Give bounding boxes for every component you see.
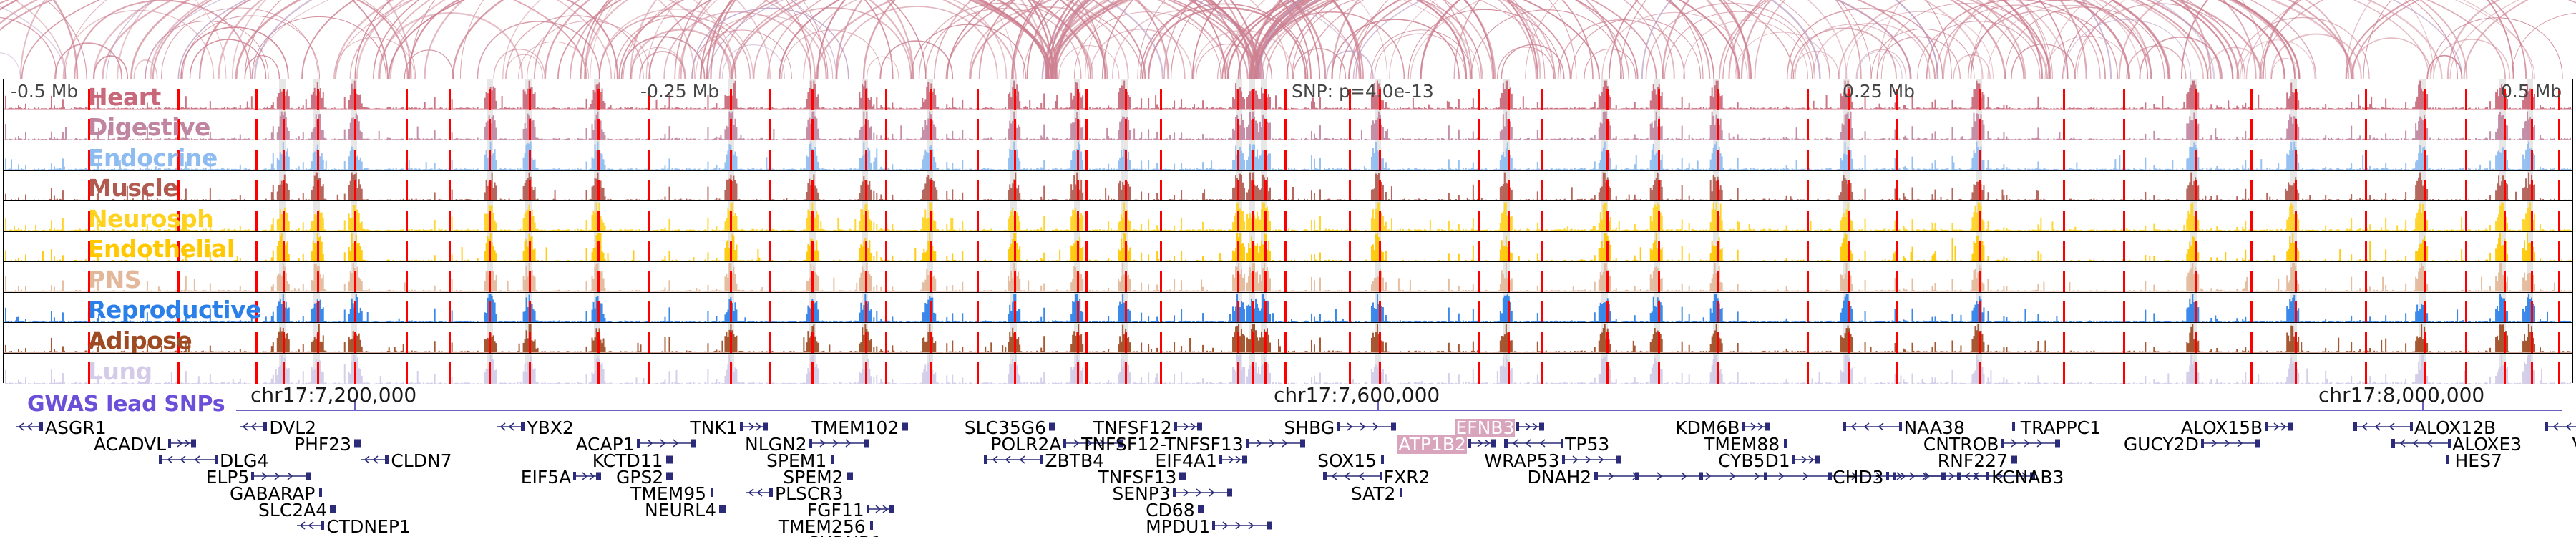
loop-arc [0, 0, 1053, 79]
track-muscle[interactable]: Muscle [4, 171, 2572, 202]
genome-browser-screenshot: Heart-0.5 Mb-0.25 Mb0.25 Mb0.5 MbSNP: p=… [0, 0, 2576, 537]
ruler-baseline [236, 410, 2562, 411]
snp-pvalue-annotation: SNP: p=4.0e-13 [1292, 81, 1434, 102]
axis-tick-label: 0.25 Mb [1843, 81, 1915, 102]
signal-histogram [4, 323, 2572, 353]
loop-arc [0, 17, 57, 79]
track-neurosph[interactable]: Neurosph [4, 201, 2572, 232]
track-endocrine[interactable]: Endocrine [4, 140, 2572, 171]
gene-name-label: CHRNB1 [806, 534, 883, 537]
track-pns[interactable]: PNS [4, 262, 2572, 293]
loop-arc [0, 0, 1048, 79]
loop-arc [1252, 0, 2067, 79]
loop-arc [494, 49, 545, 79]
loop-arc [1047, 0, 1982, 79]
epigenome-track-stack: Heart-0.5 Mb-0.25 Mb0.25 Mb0.5 MbSNP: p=… [3, 79, 2573, 383]
track-digestive[interactable]: Digestive [4, 110, 2572, 141]
loop-arc [1787, 9, 1943, 79]
axis-tick-label: -0.25 Mb [640, 81, 719, 102]
track-adipose[interactable]: Adipose [4, 323, 2572, 354]
signal-histogram [4, 201, 2572, 231]
loop-arc [0, 0, 1051, 79]
loop-arc [0, 0, 1051, 79]
loop-arc [0, 53, 20, 79]
track-endothelial[interactable]: Endothelial [4, 232, 2572, 263]
signal-histogram [4, 354, 2572, 384]
axis-tick-label: -0.5 Mb [11, 81, 78, 102]
loop-arc [2434, 39, 2510, 79]
loop-arc [2260, 0, 2576, 79]
signal-histogram [4, 171, 2572, 201]
loop-arc [619, 0, 1657, 79]
loop-arc [1571, 19, 1700, 79]
loop-arc [460, 0, 826, 79]
gene-model [883, 534, 945, 537]
track-heart[interactable]: Heart-0.5 Mb-0.25 Mb0.25 Mb0.5 MbSNP: p=… [4, 79, 2572, 110]
signal-histogram [4, 262, 2572, 292]
loop-arc [2353, 0, 2576, 79]
loop-arc [1261, 0, 2441, 79]
loop-arc [1856, 49, 1906, 79]
loop-arc [1877, 37, 1960, 79]
loop-arc [867, 57, 899, 79]
loop-arc [1813, 24, 1929, 79]
gene-chrnb1[interactable]: CHRNB1 [806, 534, 945, 537]
loop-arc [0, 0, 1053, 79]
arc-svg [0, 0, 2576, 79]
gene-annotation-panel: ASGR1DVL2YBX2TNK1TMEM102SLC35G6TNFSF12SH… [0, 419, 2576, 537]
loop-arc [519, 42, 589, 79]
axis-tick-label: 0.5 Mb [2501, 81, 2562, 102]
coordinate-ruler: GWAS lead SNPs chr17:7,200,000chr17:7,60… [0, 383, 2576, 419]
loop-arc [0, 0, 1048, 79]
loop-arc [94, 56, 127, 79]
signal-histogram [4, 293, 2572, 323]
coordinate-label: chr17:7,600,000 [1274, 383, 1440, 407]
loop-arc [2077, 0, 2576, 79]
signal-histogram [4, 110, 2572, 140]
track-lung[interactable]: Lung [4, 354, 2572, 384]
track-reproductive[interactable]: Reproductive [4, 293, 2572, 324]
loop-arc [2464, 0, 2576, 79]
loop-arc [1256, 0, 2300, 79]
coordinate-label: chr17:8,000,000 [2318, 383, 2484, 407]
loop-arc [679, 0, 1288, 79]
coordinate-label: chr17:7,200,000 [250, 383, 416, 407]
chromatin-loop-arc-panel [0, 0, 2576, 79]
loop-arc [1332, 0, 1750, 79]
signal-histogram [4, 140, 2572, 170]
loop-arc [804, 0, 1006, 79]
signal-histogram [4, 79, 2572, 110]
gene-row: CHRNB1 [0, 534, 2576, 537]
signal-histogram [4, 232, 2572, 262]
loop-arc [1257, 0, 2129, 79]
gwas-lead-snps-label: GWAS lead SNPs [27, 392, 225, 417]
